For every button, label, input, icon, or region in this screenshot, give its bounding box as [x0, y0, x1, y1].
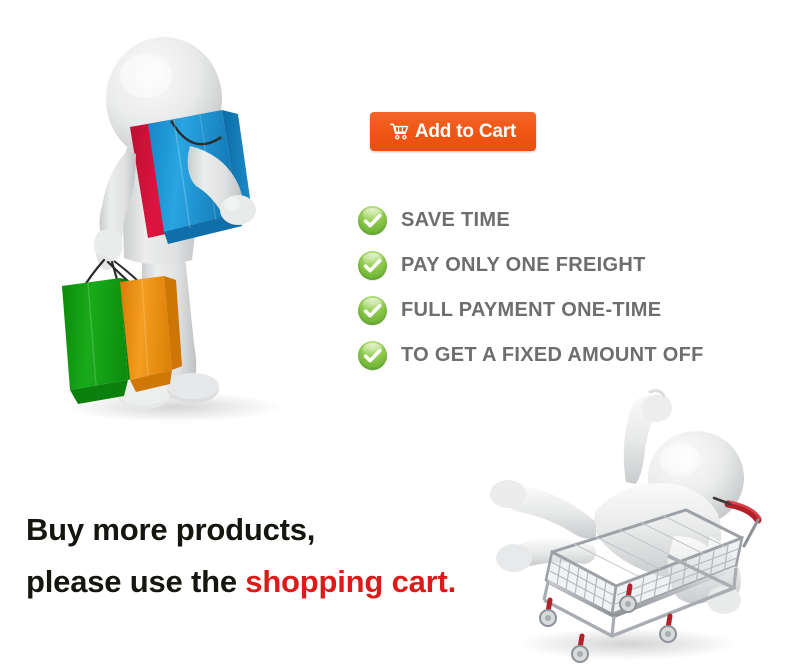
- green-check-circle-icon: [358, 251, 387, 280]
- benefit-label: TO GET A FIXED AMOUNT OFF: [401, 344, 704, 367]
- benefits-list: SAVE TIME PAY ONLY ONE FREIGHT FULL PAYM…: [358, 198, 778, 378]
- shopping-cart-icon: [390, 123, 409, 140]
- tagline: Buy more products, please use the shoppi…: [26, 504, 496, 608]
- tagline-line-2-prefix: please use the: [26, 564, 245, 599]
- benefit-item-save-time: SAVE TIME: [358, 198, 778, 243]
- benefit-label: PAY ONLY ONE FREIGHT: [401, 254, 646, 277]
- tagline-highlight: shopping cart.: [245, 564, 456, 599]
- 3d-shopper-with-bags-illustration: [24, 14, 314, 424]
- benefit-label: FULL PAYMENT ONE-TIME: [401, 299, 661, 322]
- tagline-line-2: please use the shopping cart.: [26, 556, 496, 608]
- benefit-item-full-payment-one-time: FULL PAYMENT ONE-TIME: [358, 288, 778, 333]
- 3d-figure-riding-shopping-cart-illustration: [478, 386, 798, 668]
- green-check-circle-icon: [358, 296, 387, 325]
- tagline-line-1: Buy more products,: [26, 504, 496, 556]
- benefit-label: SAVE TIME: [401, 209, 510, 232]
- add-to-cart-button[interactable]: Add to Cart: [370, 112, 536, 151]
- benefit-item-fixed-amount-off: TO GET A FIXED AMOUNT OFF: [358, 333, 778, 378]
- green-check-circle-icon: [358, 341, 387, 370]
- promotional-banner: Add to Cart SAVE TIME PAY ONLY ONE FREIG…: [0, 0, 800, 668]
- add-to-cart-label: Add to Cart: [415, 121, 516, 143]
- benefit-item-pay-only-one-freight: PAY ONLY ONE FREIGHT: [358, 243, 778, 288]
- green-check-circle-icon: [358, 206, 387, 235]
